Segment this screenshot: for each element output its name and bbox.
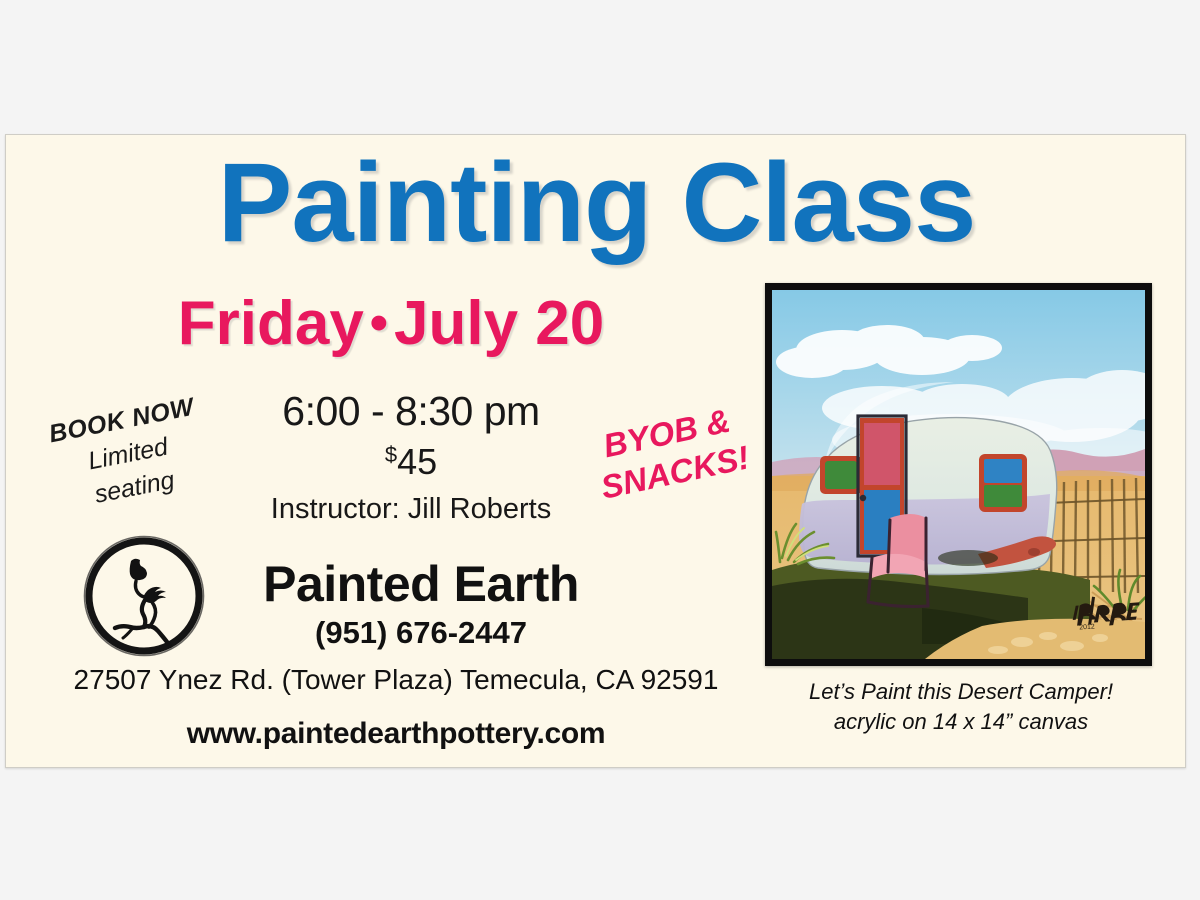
business-phone: (951) 676-2447: [211, 617, 631, 648]
artwork-frame: 2012: [765, 283, 1152, 666]
screenshot-canvas: Painting Class Friday•July 20 BOOK NOW L…: [0, 0, 1200, 900]
separator-bullet-icon: •: [364, 294, 394, 352]
page-title: Painting Class: [6, 147, 1186, 259]
potter-figure-circle-icon: [82, 534, 206, 658]
event-details: 6:00 - 8:30 pm $45 Instructor: Jill Robe…: [206, 390, 616, 524]
event-instructor: Instructor: Jill Roberts: [206, 494, 616, 524]
artwork-caption-line-2: acrylic on 14 x 14” canvas: [776, 707, 1146, 737]
event-day: Friday: [178, 289, 364, 358]
event-price: $45: [206, 443, 616, 481]
painting-class-flyer: Painting Class Friday•July 20 BOOK NOW L…: [5, 134, 1186, 768]
price-amount: 45: [397, 441, 437, 482]
business-identity: Painted Earth (951) 676-2447: [211, 559, 631, 648]
svg-text:2012: 2012: [1079, 623, 1095, 631]
book-now-callout: BOOK NOW Limited seating: [20, 385, 236, 523]
business-name: Painted Earth: [211, 559, 631, 609]
artwork-caption-line-1: Let’s Paint this Desert Camper!: [776, 677, 1146, 707]
event-month-day: July 20: [394, 289, 604, 358]
desert-camper-painting: 2012: [772, 290, 1145, 659]
event-date: Friday•July 20: [61, 293, 721, 355]
business-address: 27507 Ynez Rd. (Tower Plaza) Temecula, C…: [26, 666, 766, 694]
currency-symbol: $: [385, 442, 397, 467]
business-website: www.paintedearthpottery.com: [26, 719, 766, 749]
artwork-caption: Let’s Paint this Desert Camper! acrylic …: [776, 677, 1146, 736]
event-time: 6:00 - 8:30 pm: [206, 390, 616, 433]
